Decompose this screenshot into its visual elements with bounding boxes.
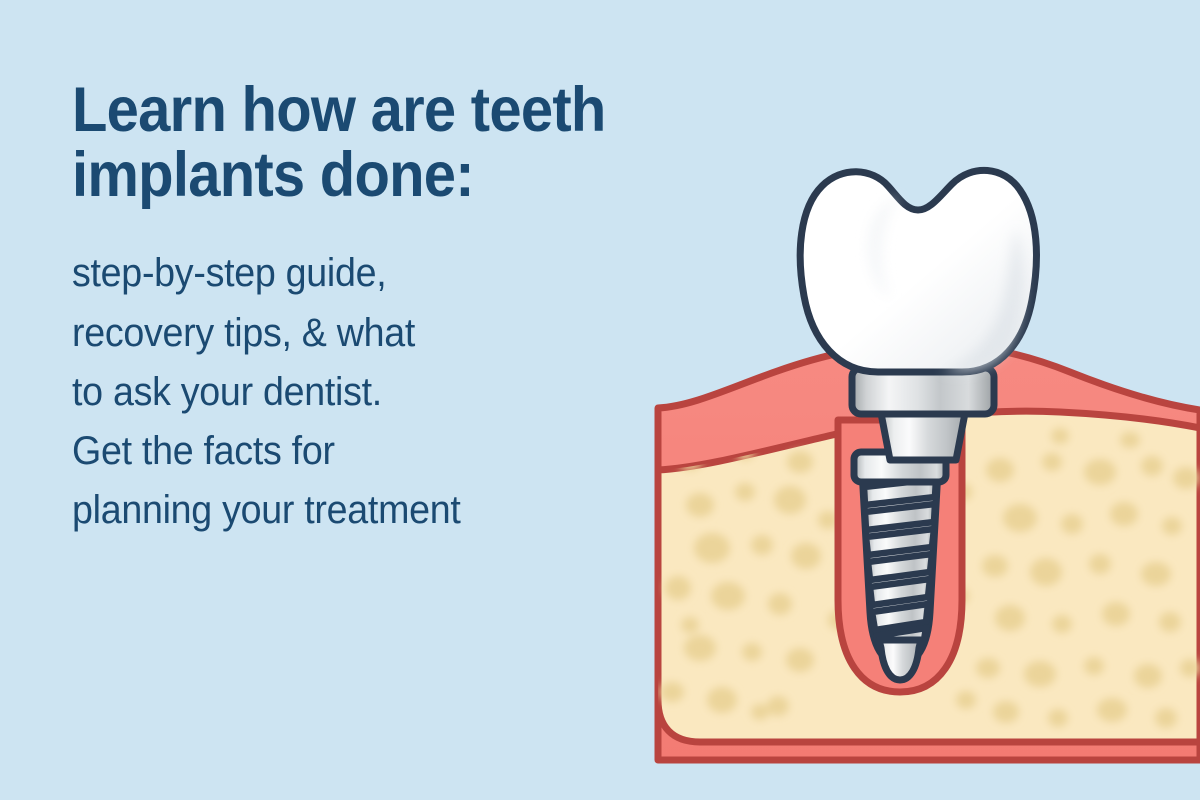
subhead-line-4: Get the facts for [72,422,655,481]
subhead: step-by-step guide, recovery tips, & wha… [72,208,655,540]
screw-tip [879,640,921,680]
headline: Learn how are teeth implants done: [72,78,642,208]
screw-threads [864,479,936,653]
text-block: Learn how are teeth implants done: step-… [72,78,692,540]
subhead-line-3: to ask your dentist. [72,363,655,422]
subhead-line-5: planning your treatment [72,481,655,540]
subhead-line-2: recovery tips, & what [72,304,655,363]
tooth-crown [800,170,1036,372]
poster-canvas: Learn how are teeth implants done: step-… [0,0,1200,800]
subhead-line-1: step-by-step guide, [72,244,655,303]
